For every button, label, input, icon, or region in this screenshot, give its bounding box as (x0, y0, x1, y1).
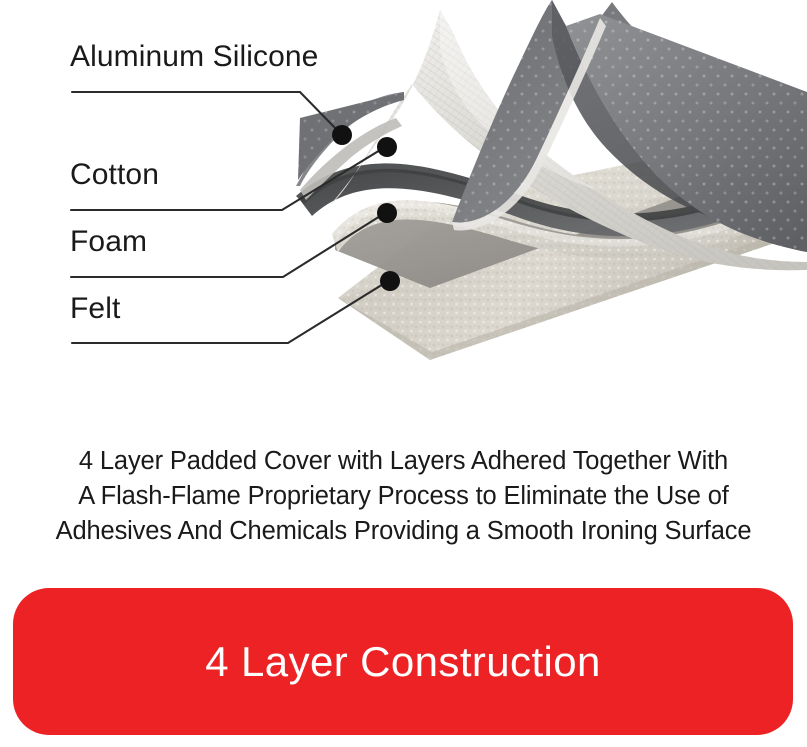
description-line-1: 4 Layer Padded Cover with Layers Adhered… (0, 444, 807, 479)
leader-dot-foam (377, 203, 397, 223)
callout-label-cotton: Cotton (70, 160, 159, 190)
banner-label: 4 Layer Construction (205, 641, 601, 683)
callout-label-aluminum-silicone: Aluminum Silicone (70, 42, 318, 72)
leader-dot-aluminum-silicone (332, 125, 352, 145)
product-infographic: Aluminum Silicone Cotton Foam Felt 4 Lay… (0, 0, 807, 747)
four-layer-construction-banner[interactable]: 4 Layer Construction (13, 588, 793, 735)
leader-dot-cotton (377, 137, 397, 157)
description-text: 4 Layer Padded Cover with Layers Adhered… (0, 444, 807, 549)
leader-dot-felt (380, 271, 400, 291)
callout-label-felt: Felt (70, 294, 120, 324)
layer-diagram: Aluminum Silicone Cotton Foam Felt (0, 0, 807, 420)
description-line-2: A Flash-Flame Proprietary Process to Eli… (0, 479, 807, 514)
description-line-3: Adhesives And Chemicals Providing a Smoo… (0, 514, 807, 549)
callout-label-foam: Foam (70, 227, 147, 257)
